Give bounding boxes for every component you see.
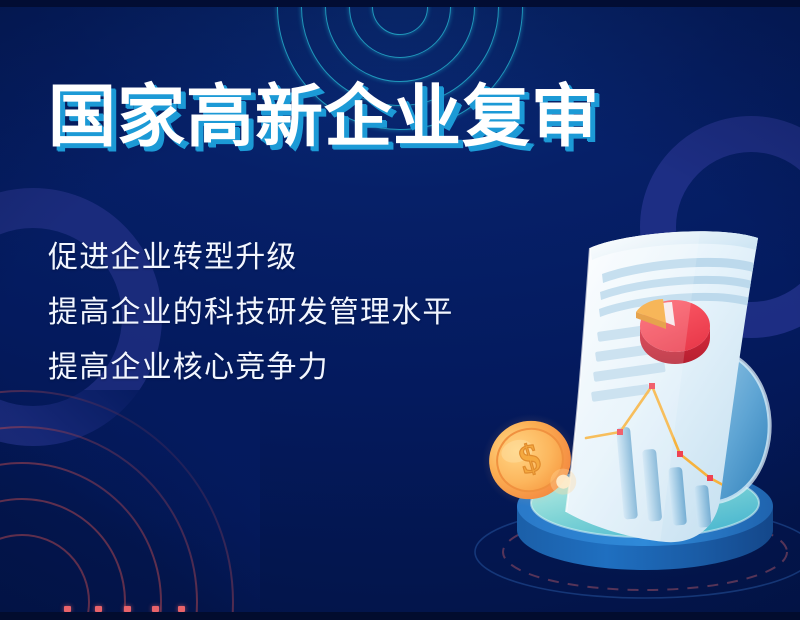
bullet-list: 促进企业转型升级 提高企业的科技研发管理水平 提高企业核心竞争力 <box>48 243 454 383</box>
trend-point <box>707 475 713 481</box>
page-title: 国家高新企业复审 <box>48 83 600 151</box>
poster-canvas: $ 国家高新企业复审 促进企业转型升级 提高企业的科技研发管理水平 提高企业核心… <box>0 0 800 620</box>
bullet-item-3: 提高企业核心竞争力 <box>48 353 454 383</box>
top-crop-strip <box>0 0 800 7</box>
bullet-item-2: 提高企业的科技研发管理水平 <box>48 298 454 328</box>
bottom-crop-strip <box>0 612 800 620</box>
report-illustration: $ <box>470 200 800 620</box>
trend-point <box>677 451 683 457</box>
title-text: 国家高新企业复审 <box>48 83 600 151</box>
bullet-item-1: 促进企业转型升级 <box>48 243 454 273</box>
radar-arcs-bottom-left-icon <box>0 392 232 620</box>
